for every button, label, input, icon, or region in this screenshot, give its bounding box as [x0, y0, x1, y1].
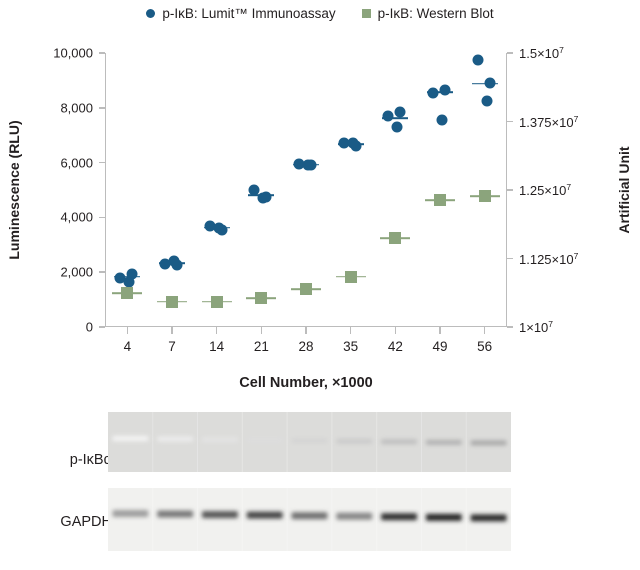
western-blot-panel: p-IκBα GAPDH [0, 404, 640, 570]
left-tick-label: 2,000 [60, 265, 93, 280]
x-tick-mark [484, 327, 486, 334]
left-tick-mark [99, 217, 105, 219]
data-point-western [166, 296, 178, 308]
data-point-western [300, 283, 312, 295]
data-point-lumit [472, 54, 483, 65]
right-tick-mark [507, 189, 513, 191]
data-point-western [479, 190, 491, 202]
x-tick-mark [261, 327, 263, 334]
left-axis-title: Luminescence (RLU) [6, 120, 22, 259]
data-point-lumit [124, 276, 135, 287]
data-point-lumit [481, 95, 492, 106]
x-tick-label: 42 [388, 339, 403, 354]
x-tick-mark [127, 327, 129, 334]
data-point-lumit [383, 111, 394, 122]
data-point-western [211, 296, 223, 308]
left-tick-mark [99, 52, 105, 54]
data-point-lumit [303, 160, 314, 171]
data-point-western [434, 194, 446, 206]
blot-label-gapdh: GAPDH [60, 514, 112, 530]
right-tick-mark [507, 326, 513, 328]
data-point-lumit [213, 223, 224, 234]
right-tick-mark [507, 121, 513, 123]
right-tick-label: 1×107 [519, 319, 553, 335]
right-tick-mark [507, 52, 513, 54]
x-axis-title: Cell Number, ×1000 [239, 375, 372, 391]
data-point-lumit [428, 87, 439, 98]
left-tick-label: 4,000 [60, 210, 93, 225]
data-point-lumit [258, 193, 269, 204]
data-point-lumit [347, 138, 358, 149]
right-tick-mark [507, 258, 513, 260]
blot-canvas [108, 488, 511, 551]
data-point-western [121, 287, 133, 299]
blot-canvas [108, 412, 511, 472]
x-tick-label: 49 [432, 339, 447, 354]
data-point-lumit [437, 115, 448, 126]
x-tick-label: 28 [298, 339, 313, 354]
left-tick-mark [99, 271, 105, 273]
blot-image-p-ikba [108, 412, 511, 472]
right-tick-label: 1.375×107 [519, 113, 578, 129]
x-tick-mark [171, 327, 173, 334]
left-tick-label: 6,000 [60, 155, 93, 170]
right-tick-label: 1.125×107 [519, 250, 578, 266]
data-point-lumit [395, 106, 406, 117]
x-tick-mark [395, 327, 397, 334]
blot-label-p-ikba: p-IκBα [70, 452, 112, 468]
scatter-chart: Luminescence (RLU) Artificial Unit Cell … [0, 0, 640, 400]
right-tick-label: 1.5×107 [519, 45, 564, 61]
x-tick-label: 4 [124, 339, 132, 354]
x-tick-label: 56 [477, 339, 492, 354]
x-tick-mark [350, 327, 352, 334]
left-tick-mark [99, 162, 105, 164]
left-tick-label: 8,000 [60, 100, 93, 115]
data-point-lumit [169, 256, 180, 267]
x-tick-mark [439, 327, 441, 334]
right-axis-title: Artificial Unit [616, 146, 632, 233]
x-tick-label: 7 [168, 339, 176, 354]
x-tick-mark [216, 327, 218, 334]
data-point-western [255, 292, 267, 304]
data-point-western [345, 271, 357, 283]
x-tick-label: 35 [343, 339, 358, 354]
plot-data-layer [105, 53, 507, 327]
left-tick-label: 10,000 [53, 46, 93, 61]
data-point-lumit [392, 121, 403, 132]
x-tick-label: 14 [209, 339, 224, 354]
data-point-lumit [440, 84, 451, 95]
left-tick-mark [99, 326, 105, 328]
data-point-lumit [484, 78, 495, 89]
blot-image-gapdh [108, 488, 511, 551]
data-point-western [389, 232, 401, 244]
x-tick-mark [305, 327, 307, 334]
x-tick-label: 21 [254, 339, 269, 354]
right-tick-label: 1.25×107 [519, 182, 571, 198]
left-tick-mark [99, 107, 105, 109]
left-tick-label: 0 [86, 320, 93, 335]
